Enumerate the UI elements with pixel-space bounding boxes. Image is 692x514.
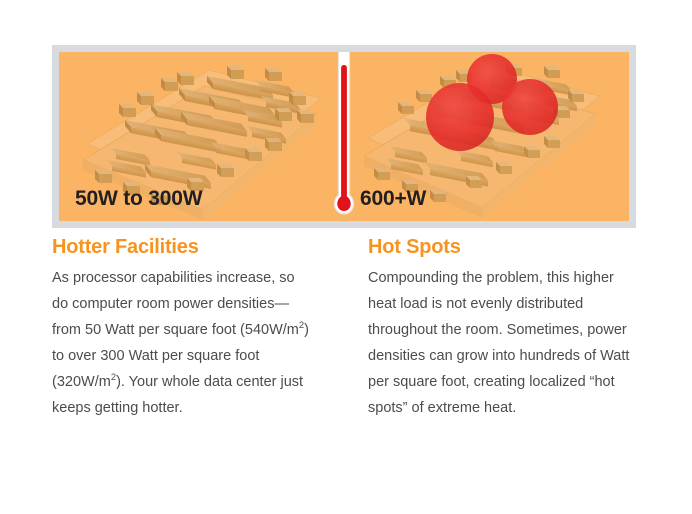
column-heading-hotter-facilities: Hotter Facilities [52, 236, 314, 258]
column-hotter-facilities: Hotter Facilities As processor capabilit… [52, 236, 314, 421]
thermometer-icon [334, 52, 355, 221]
figure-panel-inner: 50W to 300W 600+W [59, 52, 629, 221]
column-heading-hot-spots: Hot Spots [368, 236, 630, 258]
hot-spot-circle [426, 83, 494, 151]
column-body-hot-spots: Compounding the problem, this higher hea… [368, 265, 630, 421]
column-body-hotter-facilities: As processor capabilities increase, so d… [52, 265, 314, 421]
figure-panel: 50W to 300W 600+W [52, 45, 636, 228]
watt-label-left: 50W to 300W [75, 187, 202, 211]
watt-label-right: 600+W [360, 187, 426, 211]
column-hot-spots: Hot Spots Compounding the problem, this … [368, 236, 630, 421]
hot-spot-circle [502, 79, 558, 135]
